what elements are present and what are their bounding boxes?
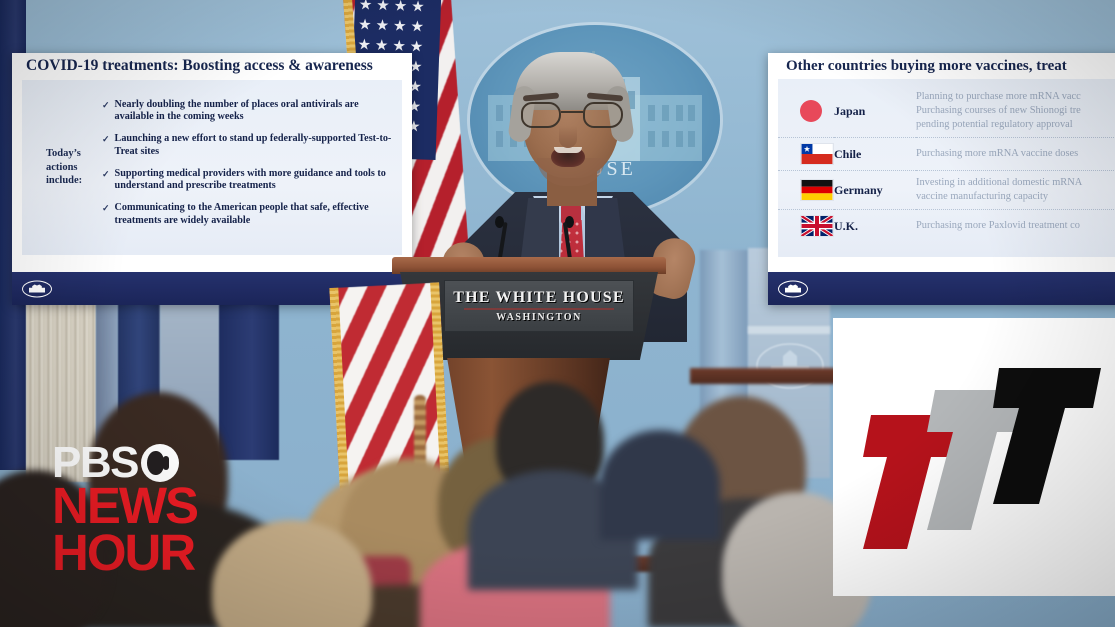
white-house-plaque: THE WHITE HOUSE WASHINGTON xyxy=(444,280,634,332)
check-icon: ✓ xyxy=(102,168,110,194)
presentation-slide-left: COVID-19 treatments: Boosting access & a… xyxy=(12,53,412,305)
uk-flag-icon xyxy=(800,215,834,237)
flag-cell xyxy=(778,85,834,138)
bullet-text: Supporting medical providers with more g… xyxy=(115,168,394,194)
bullet-text: Communicating to the American people tha… xyxy=(115,202,394,228)
country-description: Purchasing more Paxlovid treatment co xyxy=(916,210,1115,243)
flag-cell xyxy=(778,210,834,243)
hour-text: HOUR xyxy=(52,530,217,577)
country-description: Planning to purchase more mRNA vacc Purc… xyxy=(916,85,1115,138)
speaker-nose xyxy=(559,126,577,148)
table-row: U.K. Purchasing more Paxlovid treatment … xyxy=(778,210,1115,243)
table-row: Japan Planning to purchase more mRNA vac… xyxy=(778,85,1115,138)
country-name: U.K. xyxy=(834,210,916,243)
eyeglasses-icon xyxy=(521,102,623,128)
japan-flag-icon xyxy=(800,100,822,122)
plaque-line-1: THE WHITE HOUSE xyxy=(453,289,625,307)
chile-flag-icon xyxy=(800,143,834,165)
germany-flag-icon xyxy=(800,179,834,201)
country-name: Chile xyxy=(834,138,916,171)
plaque-divider xyxy=(464,308,614,310)
list-item: ✓ Communicating to the American people t… xyxy=(102,202,394,228)
presentation-slide-right: Other countries buying more vaccines, tr… xyxy=(768,53,1115,305)
white-house-seal-icon xyxy=(22,280,52,297)
flag-cell xyxy=(778,171,834,210)
table-row: Germany Investing in additional domestic… xyxy=(778,171,1115,210)
slide-left-title: COVID-19 treatments: Boosting access & a… xyxy=(26,57,412,75)
check-icon: ✓ xyxy=(102,99,110,125)
country-name: Germany xyxy=(834,171,916,210)
list-item: ✓ Launching a new effort to stand up fed… xyxy=(102,133,394,159)
list-item: ✓ Nearly doubling the number of places o… xyxy=(102,99,394,125)
ttt-letter-black xyxy=(993,368,1101,504)
flag-cell xyxy=(778,138,834,171)
white-house-seal-icon xyxy=(755,340,825,392)
bullet-text: Launching a new effort to stand up feder… xyxy=(115,133,394,159)
podium-top-surface xyxy=(392,257,666,274)
ttt-logo-mark xyxy=(833,318,1115,596)
slide-left-body: Today’s actions include: ✓ Nearly doubli… xyxy=(22,80,402,255)
country-description: Purchasing more mRNA vaccine doses xyxy=(916,138,1115,171)
pbs-head-icon xyxy=(141,444,179,482)
slide-left-bullet-list: ✓ Nearly doubling the number of places o… xyxy=(98,99,394,237)
list-item: ✓ Supporting medical providers with more… xyxy=(102,168,394,194)
press-bench xyxy=(690,368,850,384)
country-name: Japan xyxy=(834,85,916,138)
news-text: NEWS xyxy=(52,483,217,530)
ttt-logo xyxy=(833,318,1115,596)
country-description: Investing in additional domestic mRNA va… xyxy=(916,171,1115,210)
slide-right-body: Japan Planning to purchase more mRNA vac… xyxy=(778,79,1115,257)
slide-left-side-label: Today’s actions include: xyxy=(28,147,98,189)
check-icon: ✓ xyxy=(102,202,110,228)
check-icon: ✓ xyxy=(102,133,110,159)
audience-shoulder xyxy=(600,430,720,540)
country-table: Japan Planning to purchase more mRNA vac… xyxy=(778,85,1115,242)
table-row: Chile Purchasing more mRNA vaccine doses xyxy=(778,138,1115,171)
slide-right-title: Other countries buying more vaccines, tr… xyxy=(786,58,1115,75)
pbs-newshour-logo: PBS NEWS HOUR xyxy=(52,443,217,583)
white-house-seal-icon xyxy=(778,280,808,297)
plaque-line-2: WASHINGTON xyxy=(496,312,582,323)
backdrop-right-panel-rail xyxy=(748,326,830,334)
slide-right-footer xyxy=(768,272,1115,305)
bullet-text: Nearly doubling the number of places ora… xyxy=(115,99,394,125)
video-frame: HOUSE ★★★★★★★★★★★★★★★★★★★★★★★★★★★★ COVID… xyxy=(0,0,1115,627)
